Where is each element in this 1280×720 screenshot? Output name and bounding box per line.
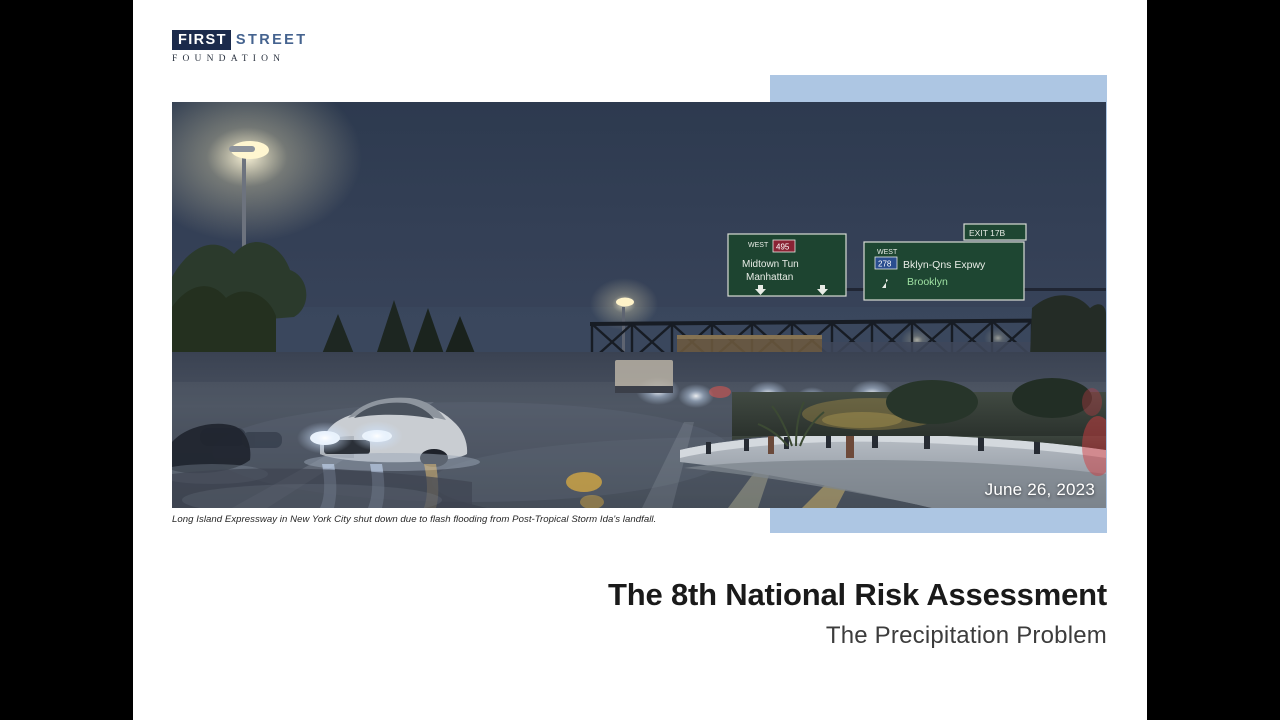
page-title: The 8th National Risk Assessment: [347, 578, 1107, 612]
photo-caption: Long Island Expressway in New York City …: [172, 514, 872, 525]
svg-text:WEST: WEST: [877, 249, 898, 256]
logo-first-text: FIRST: [172, 30, 231, 50]
slide-canvas: FIRST STREET FOUNDATION: [0, 0, 1280, 720]
logo-street-text: STREET: [236, 33, 308, 47]
page-subtitle: The Precipitation Problem: [347, 623, 1107, 649]
highway-sign-495: WEST 495 Midtown Tun Manhattan: [728, 234, 846, 296]
logo-wordmark: FIRST STREET: [172, 29, 308, 50]
title-block: The 8th National Risk Assessment The Pre…: [347, 578, 1107, 649]
hero-photo: WEST 495 Midtown Tun Manhattan WEST 278 …: [172, 102, 1106, 508]
svg-text:Bklyn-Qns Expwy: Bklyn-Qns Expwy: [903, 259, 986, 271]
slide-body: FIRST STREET FOUNDATION: [133, 0, 1147, 720]
svg-text:EXIT 17B: EXIT 17B: [969, 228, 1006, 238]
svg-text:Midtown Tun: Midtown Tun: [742, 259, 799, 270]
first-street-foundation-logo[interactable]: FIRST STREET FOUNDATION: [172, 29, 308, 71]
hero-photo-illustration: WEST 495 Midtown Tun Manhattan WEST 278 …: [172, 102, 1106, 508]
svg-text:Brooklyn: Brooklyn: [907, 276, 948, 288]
photo-date-label: June 26, 2023: [985, 480, 1095, 500]
svg-text:278: 278: [878, 260, 892, 269]
svg-text:Manhattan: Manhattan: [746, 272, 793, 283]
svg-text:WEST: WEST: [748, 242, 769, 249]
svg-text:495: 495: [776, 243, 790, 252]
logo-foundation-text: FOUNDATION: [172, 54, 308, 64]
